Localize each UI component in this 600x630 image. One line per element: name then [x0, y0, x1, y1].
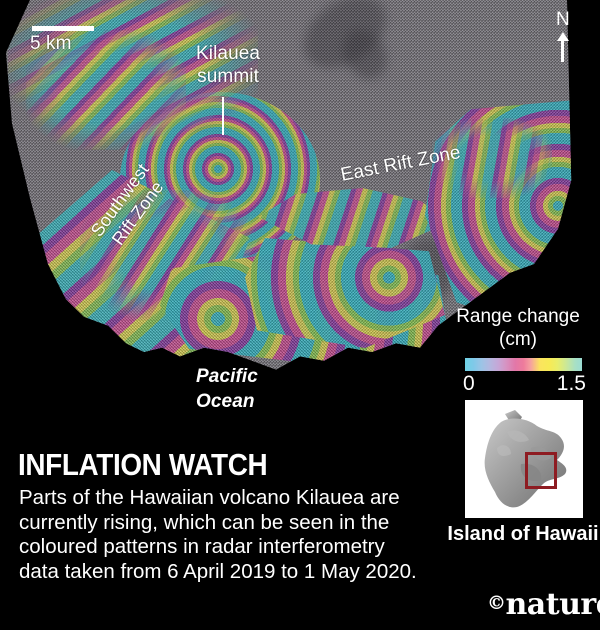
caption-body: Parts of the Hawaiian volcano Kilauea ar… [19, 486, 419, 584]
north-arrow-label: N [556, 10, 570, 30]
legend-colorbar [465, 358, 582, 371]
north-arrow-head-icon [557, 32, 569, 41]
north-arrow: N [556, 10, 570, 62]
range-change-legend: Range change (cm) 0 1.5 [443, 305, 593, 395]
locator-inset [465, 400, 583, 518]
inset-caption: Island of Hawaii [443, 522, 600, 546]
north-arrow-shaft-icon [561, 41, 564, 62]
legend-max-value: 1.5 [557, 372, 586, 396]
kilauea-summit-label: Kilauea summit [196, 42, 260, 88]
scale-bar [32, 26, 94, 31]
scale-bar-label: 5 km [30, 33, 72, 55]
summit-leader-line [222, 97, 224, 135]
study-area-highlight-box [525, 452, 557, 489]
nature-wordmark: nature [506, 587, 600, 622]
copyright-icon: © [487, 592, 506, 614]
legend-title: Range change (cm) [443, 305, 593, 351]
legend-tick-row: 0 1.5 [465, 371, 582, 395]
nature-logo: ©nature [487, 588, 600, 620]
headline: INFLATION WATCH [18, 449, 267, 481]
infographic-root: 5 km Kilauea summit East Rift Zone South… [0, 0, 600, 630]
legend-min-value: 0 [463, 372, 475, 396]
pacific-ocean-label: Pacific Ocean [196, 364, 258, 414]
